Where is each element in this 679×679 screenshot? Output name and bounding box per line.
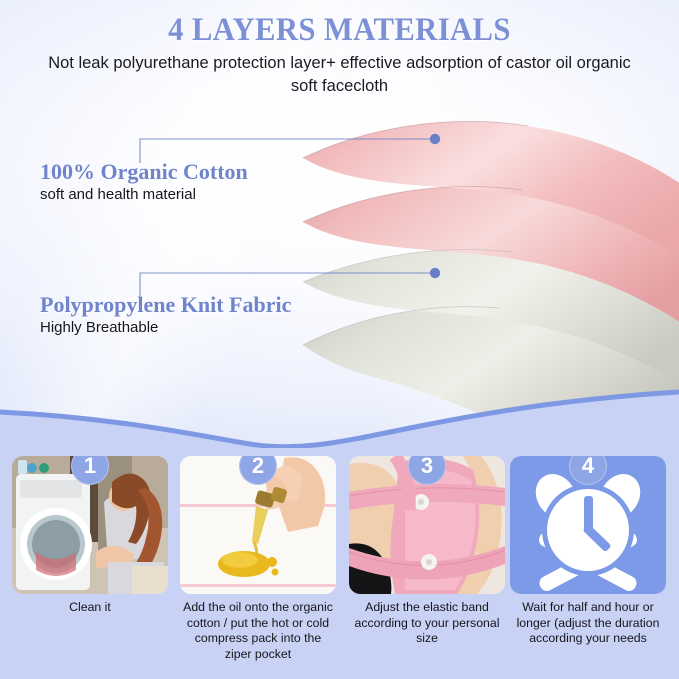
step-1-caption: Clean it [12, 600, 168, 616]
callout-subtitle-cotton: soft and health material [40, 186, 248, 203]
callout-subtitle-knit: Highly Breathable [40, 319, 291, 336]
step-2-caption: Add the oil onto the organic cotton / pu… [180, 600, 336, 662]
page-subtitle: Not leak polyurethane protection layer+ … [38, 52, 641, 99]
page-title: 4 LAYERS MATERIALS [24, 12, 655, 49]
step-card-4[interactable]: 4 Wait for half and hour or longer (adju… [510, 456, 666, 647]
step-1-thumbnail[interactable]: 1 [12, 456, 168, 594]
callout-title-cotton: 100% Organic Cotton [40, 159, 248, 185]
step-2-thumbnail[interactable]: 2 [180, 456, 336, 594]
steps-strip: 1 Clean it [0, 448, 679, 679]
callout-title-knit: Polypropylene Knit Fabric [40, 292, 291, 318]
callout-organic-cotton: 100% Organic Cotton soft and health mate… [40, 159, 248, 203]
step-4-thumbnail[interactable]: 4 [510, 456, 666, 594]
callout-polypropylene-knit: Polypropylene Knit Fabric Highly Breatha… [40, 292, 291, 336]
step-4-caption: Wait for half and hour or longer (adjust… [510, 600, 666, 647]
step-card-1[interactable]: 1 Clean it [12, 456, 168, 616]
step-card-2[interactable]: 2 Add the oil onto the organic cotton / … [180, 456, 336, 662]
step-3-thumbnail[interactable]: 3 [349, 456, 505, 594]
product-infographic: 4 LAYERS MATERIALS Not leak polyurethane… [0, 0, 679, 679]
step-card-3[interactable]: 3 Adjust the elastic band according to y… [349, 456, 505, 647]
step-3-caption: Adjust the elastic band according to you… [349, 600, 505, 647]
